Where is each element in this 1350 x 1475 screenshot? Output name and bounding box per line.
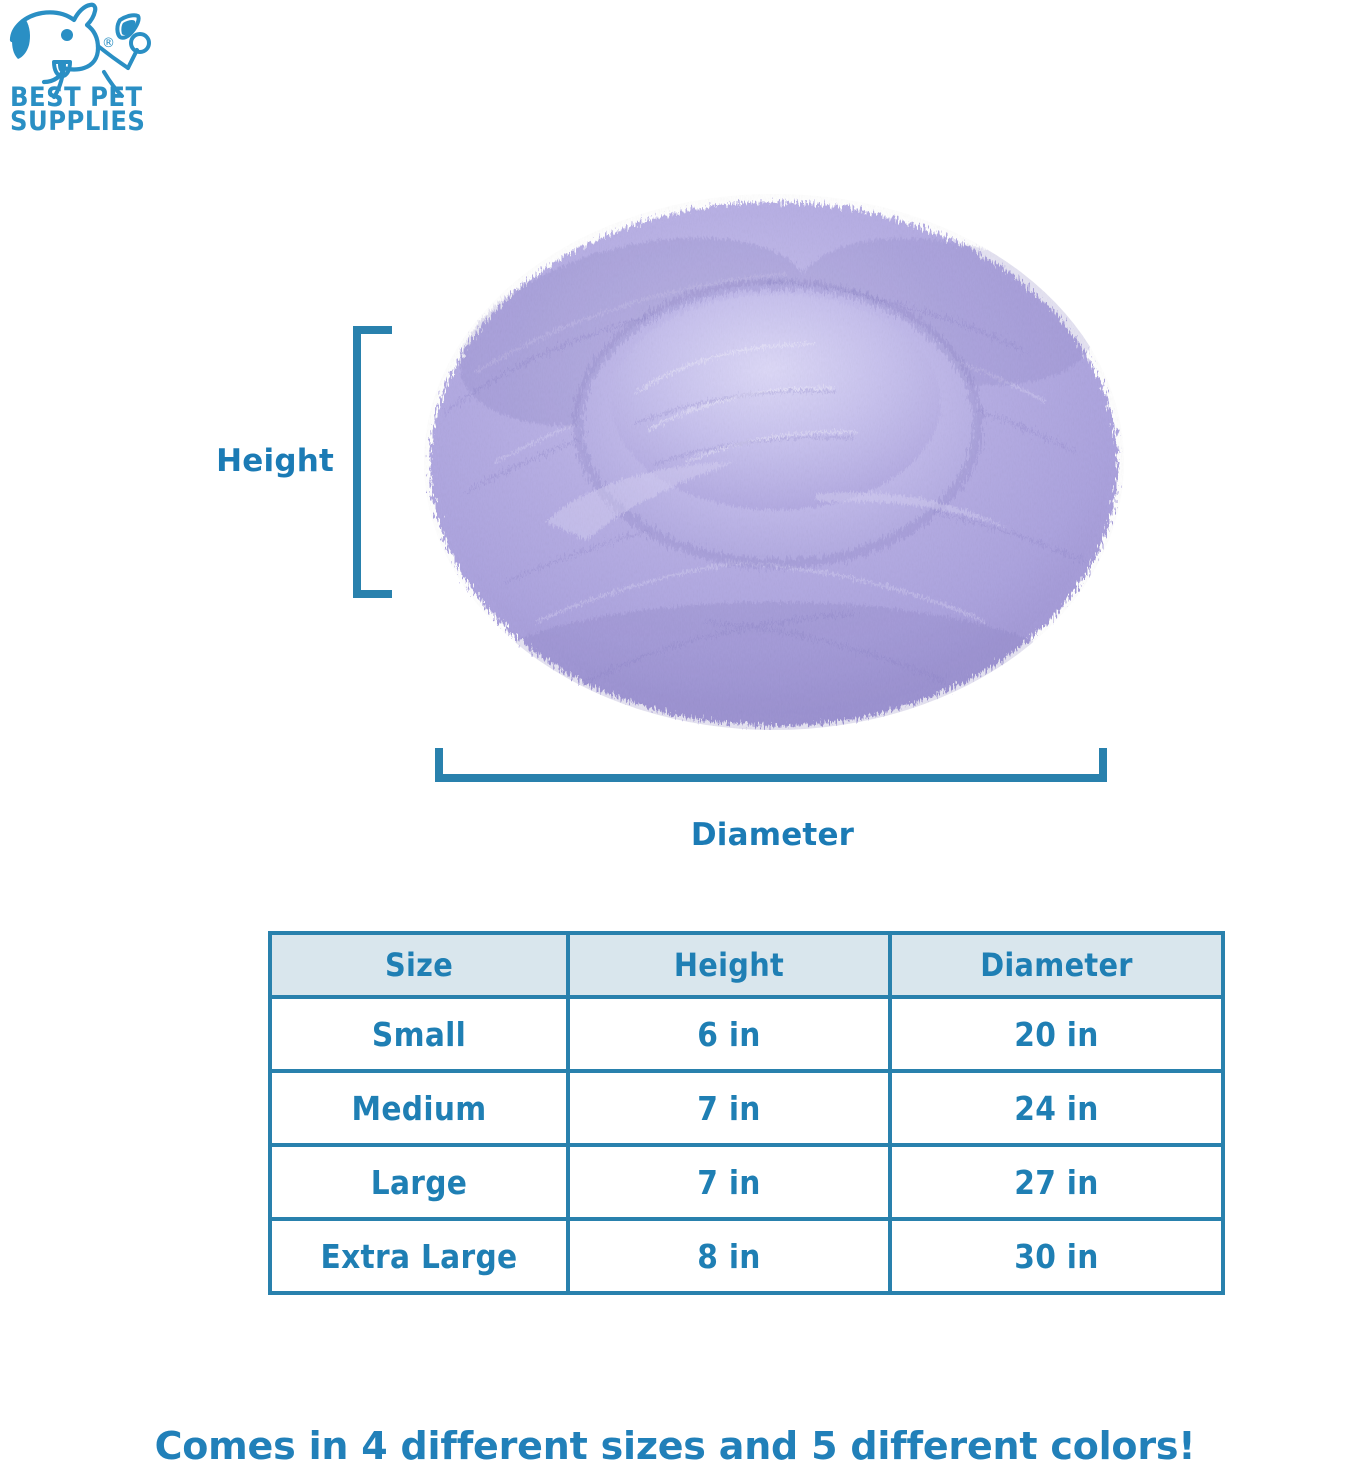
diameter-label: Diameter	[0, 817, 1350, 853]
cell-height: 6 in	[568, 997, 890, 1071]
cell-height: 7 in	[568, 1071, 890, 1145]
cell-height: 8 in	[568, 1219, 890, 1293]
column-header-size: Size	[270, 933, 568, 997]
table-row: Extra Large 8 in 30 in	[270, 1219, 1223, 1293]
table-row: Medium 7 in 24 in	[270, 1071, 1223, 1145]
cell-height: 7 in	[568, 1145, 890, 1219]
cell-size: Large	[270, 1145, 568, 1219]
size-chart-table: Size Height Diameter Small 6 in 20 in Me…	[268, 931, 1225, 1295]
infographic-page: ® BEST PET SUPPLIES	[0, 0, 1350, 1475]
footer-caption: Comes in 4 different sizes and 5 differe…	[0, 1424, 1350, 1468]
column-header-height: Height	[568, 933, 890, 997]
cell-size: Small	[270, 997, 568, 1071]
table-header-row: Size Height Diameter	[270, 933, 1223, 997]
cell-diameter: 24 in	[890, 1071, 1223, 1145]
table-row: Small 6 in 20 in	[270, 997, 1223, 1071]
registered-trademark-icon: ®	[102, 36, 115, 51]
cell-size: Extra Large	[270, 1219, 568, 1293]
cell-diameter: 27 in	[890, 1145, 1223, 1219]
table-row: Large 7 in 27 in	[270, 1145, 1223, 1219]
column-header-diameter: Diameter	[890, 933, 1223, 997]
height-dimension-bracket	[350, 326, 394, 598]
height-label: Height	[204, 443, 334, 479]
cell-diameter: 30 in	[890, 1219, 1223, 1293]
cell-size: Medium	[270, 1071, 568, 1145]
brand-logo: ® BEST PET SUPPLIES	[4, 2, 194, 132]
diameter-dimension-bracket	[434, 748, 1108, 784]
cell-diameter: 20 in	[890, 997, 1223, 1071]
brand-name-line-2: SUPPLIES	[10, 106, 145, 132]
product-image-pet-bed	[386, 162, 1162, 742]
